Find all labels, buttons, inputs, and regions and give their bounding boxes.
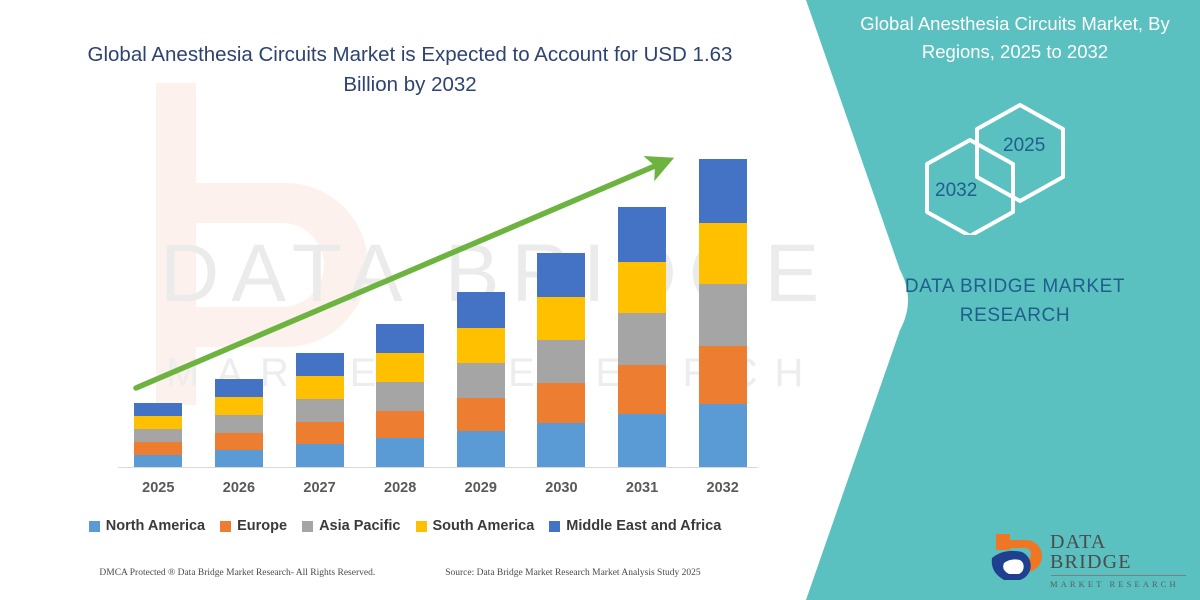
logo-mark-icon xyxy=(990,530,1046,580)
bar-segment xyxy=(699,223,747,284)
logo-title: DATA BRIDGE xyxy=(1050,532,1190,572)
bar-segment xyxy=(376,324,424,353)
brand-name: DATA BRIDGE MARKET RESEARCH xyxy=(840,272,1190,331)
legend-label: South America xyxy=(433,518,535,534)
brand-name-line-1: DATA BRIDGE MARKET xyxy=(840,272,1190,301)
bar-segment xyxy=(296,444,344,468)
legend-label: Europe xyxy=(237,518,287,534)
x-axis-tick-2032: 2032 xyxy=(683,480,763,496)
x-axis-labels: 20252026202720282029203020312032 xyxy=(118,480,763,500)
bar-segment xyxy=(376,353,424,382)
legend-item[interactable]: Europe xyxy=(220,518,287,534)
bar-segment xyxy=(296,376,344,399)
chart-plot-area xyxy=(118,140,763,468)
logo-subtitle: MARKET RESEARCH xyxy=(1050,579,1190,589)
bar-segment xyxy=(537,340,585,383)
legend-label: Middle East and Africa xyxy=(566,518,721,534)
bar-segment xyxy=(537,383,585,423)
bar-column-2026[interactable] xyxy=(215,379,263,468)
bar-segment xyxy=(376,411,424,438)
data-bridge-logo[interactable]: DATA BRIDGE MARKET RESEARCH xyxy=(990,530,1190,586)
legend-item[interactable]: Asia Pacific xyxy=(302,518,400,534)
chart-legend: North AmericaEuropeAsia PacificSouth Ame… xyxy=(0,518,810,534)
bar-column-2027[interactable] xyxy=(296,353,344,468)
chart-subtitle: Global Anesthesia Circuits Market, By Re… xyxy=(835,10,1195,66)
bar-segment xyxy=(699,159,747,223)
legend-swatch-icon xyxy=(220,521,231,532)
infographic-root: DATA BRIDGE MARKET RESEARCH Global Anest… xyxy=(0,0,1200,600)
legend-swatch-icon xyxy=(549,521,560,532)
bar-segment xyxy=(215,397,263,415)
hexagon-outlines-icon xyxy=(915,100,1115,235)
legend-label: Asia Pacific xyxy=(319,518,400,534)
bar-segment xyxy=(537,253,585,297)
right-panel-content: Global Anesthesia Circuits Market, By Re… xyxy=(830,0,1200,600)
bar-segment xyxy=(134,429,182,442)
x-axis-tick-2027: 2027 xyxy=(280,480,360,496)
bar-segment xyxy=(296,353,344,376)
stacked-bar-chart: 20252026202720282029203020312032 xyxy=(0,0,810,600)
bar-segment xyxy=(457,292,505,328)
x-axis-tick-2031: 2031 xyxy=(602,480,682,496)
bar-segment xyxy=(618,262,666,313)
x-axis-tick-2030: 2030 xyxy=(521,480,601,496)
bar-segment xyxy=(699,346,747,404)
bar-segment xyxy=(618,414,666,468)
bar-segment xyxy=(537,297,585,340)
logo-text: DATA BRIDGE MARKET RESEARCH xyxy=(1050,532,1190,589)
logo-divider xyxy=(1051,575,1186,576)
bar-segment xyxy=(699,284,747,346)
bar-segment xyxy=(618,313,666,365)
year-hexagons: 2032 2025 xyxy=(915,100,1115,235)
legend-item[interactable]: Middle East and Africa xyxy=(549,518,721,534)
footer-copyright: DMCA Protected ® Data Bridge Market Rese… xyxy=(99,568,375,578)
bar-segment xyxy=(134,403,182,416)
bar-column-2029[interactable] xyxy=(457,292,505,468)
bar-segment xyxy=(376,438,424,468)
bar-segment xyxy=(376,382,424,411)
footer-source: Source: Data Bridge Market Research Mark… xyxy=(445,568,700,578)
footer: DMCA Protected ® Data Bridge Market Rese… xyxy=(0,568,800,578)
bar-column-2030[interactable] xyxy=(537,253,585,468)
bar-segment xyxy=(134,416,182,429)
bar-segment xyxy=(699,404,747,468)
x-axis-tick-2026: 2026 xyxy=(199,480,279,496)
bar-segment xyxy=(457,398,505,431)
hexagon-label-start-year: 2032 xyxy=(935,180,977,202)
bar-segment xyxy=(537,423,585,468)
legend-item[interactable]: South America xyxy=(416,518,535,534)
x-axis-tick-2029: 2029 xyxy=(441,480,521,496)
bar-column-2031[interactable] xyxy=(618,207,666,468)
brand-name-line-2: RESEARCH xyxy=(840,301,1190,330)
left-chart-panel: DATA BRIDGE MARKET RESEARCH Global Anest… xyxy=(0,0,810,600)
x-axis-tick-2028: 2028 xyxy=(360,480,440,496)
chart-baseline xyxy=(118,467,758,468)
bar-segment xyxy=(618,365,666,414)
bar-segment xyxy=(215,450,263,468)
bar-column-2032[interactable] xyxy=(699,159,747,468)
legend-swatch-icon xyxy=(416,521,427,532)
bar-segment xyxy=(215,415,263,433)
bar-segment xyxy=(296,399,344,422)
bar-segment xyxy=(457,431,505,468)
legend-swatch-icon xyxy=(302,521,313,532)
bar-segment xyxy=(457,363,505,398)
bar-segment xyxy=(134,442,182,455)
x-axis-tick-2025: 2025 xyxy=(118,480,198,496)
legend-item[interactable]: North America xyxy=(89,518,205,534)
bar-segment xyxy=(215,433,263,450)
legend-swatch-icon xyxy=(89,521,100,532)
bar-segment xyxy=(296,422,344,444)
legend-label: North America xyxy=(106,518,205,534)
bar-column-2028[interactable] xyxy=(376,324,424,468)
bar-segment xyxy=(457,328,505,363)
bar-segment xyxy=(215,379,263,397)
bar-column-2025[interactable] xyxy=(134,403,182,468)
hexagon-label-end-year: 2025 xyxy=(1003,135,1045,157)
bar-segment xyxy=(618,207,666,262)
